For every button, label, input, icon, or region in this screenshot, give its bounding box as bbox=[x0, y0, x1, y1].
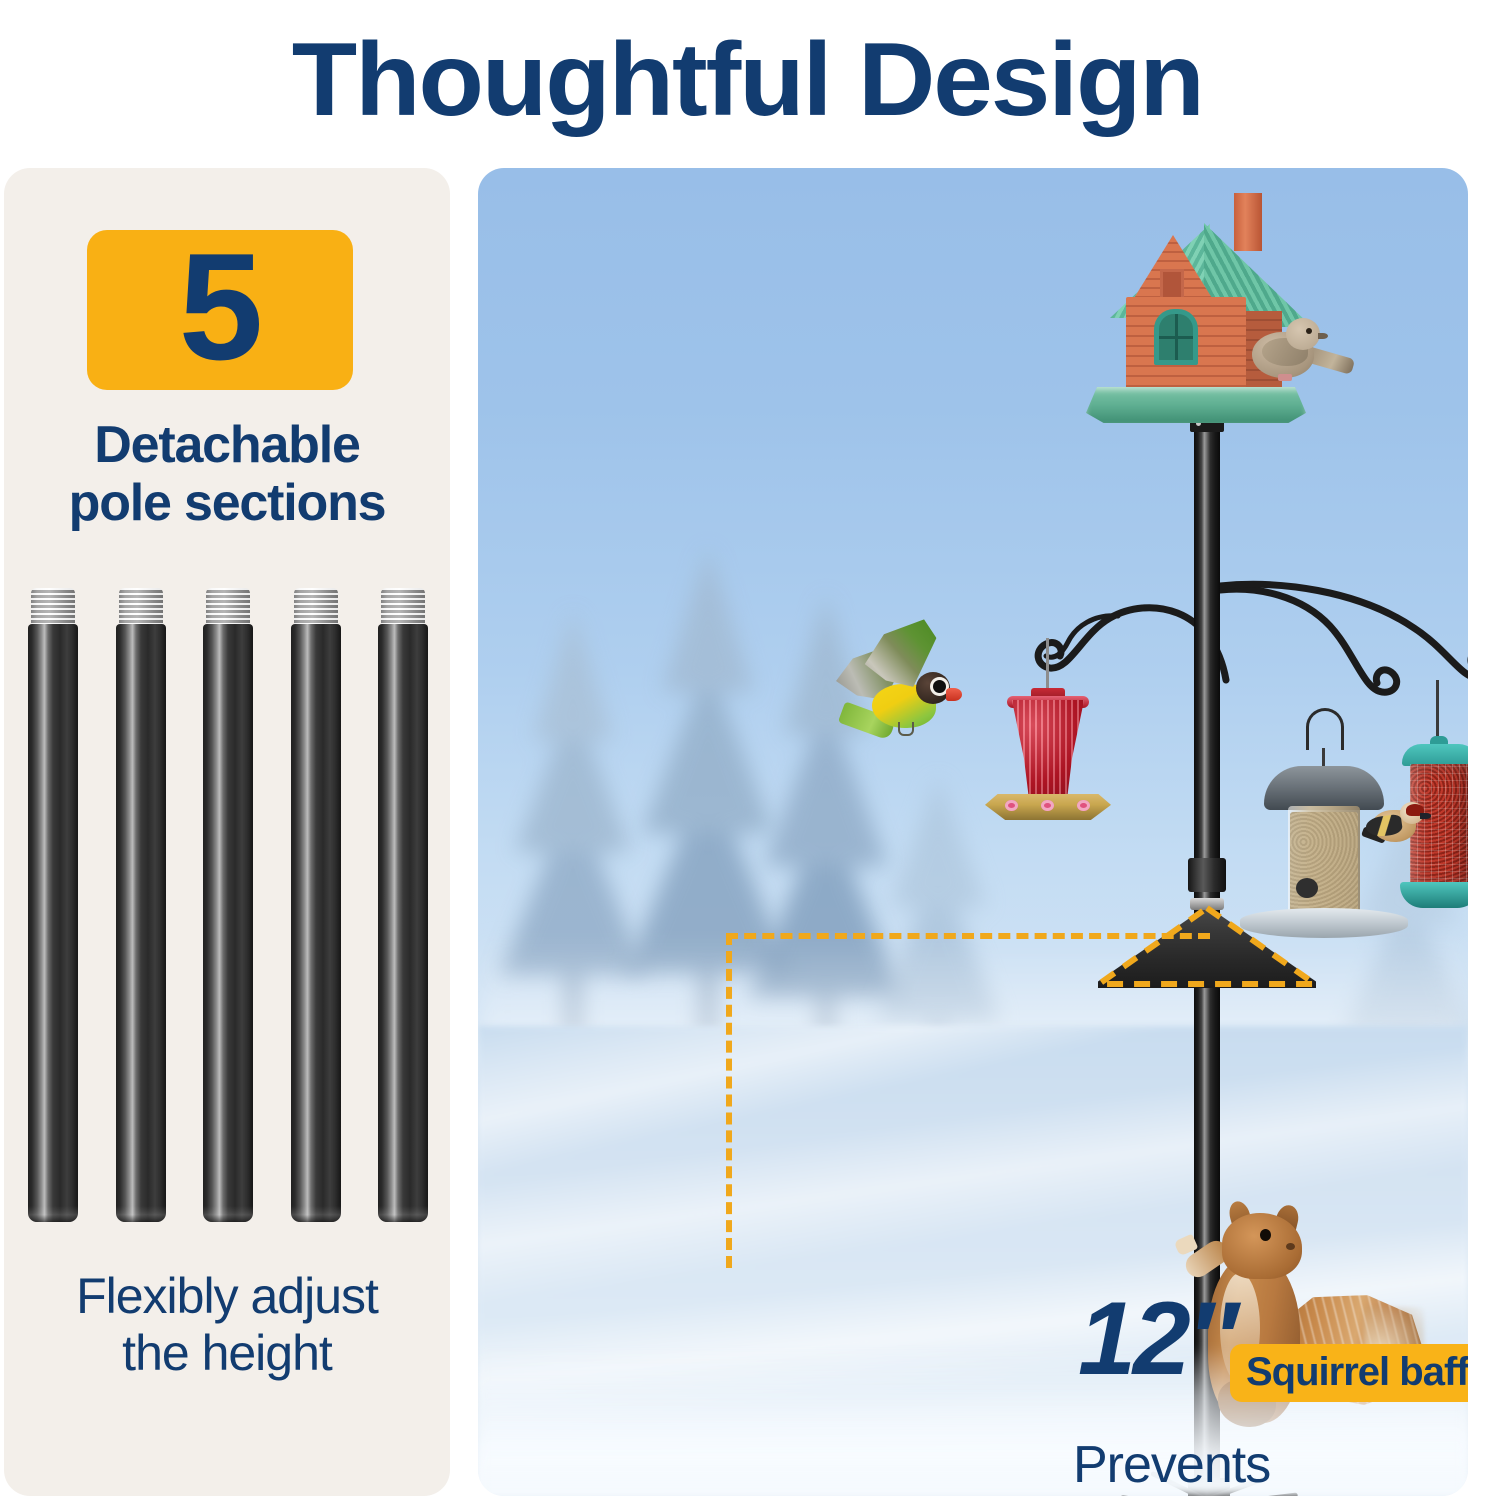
feeder-seed-fill bbox=[1290, 812, 1358, 912]
feeder-base bbox=[1400, 882, 1468, 908]
pole-section bbox=[291, 588, 341, 1248]
lovebird-beak bbox=[946, 688, 962, 701]
pole-body bbox=[28, 624, 78, 1222]
baffle-measurement-label: 12″ bbox=[1078, 1287, 1235, 1391]
feeder-port bbox=[1296, 878, 1318, 898]
pole-body bbox=[378, 624, 428, 1222]
page-title: Thoughtful Design bbox=[291, 28, 1202, 132]
pole-section bbox=[378, 588, 428, 1248]
header: Thoughtful Design bbox=[0, 0, 1494, 160]
tree-tier bbox=[662, 547, 754, 692]
pole-section bbox=[28, 588, 78, 1248]
mourning-dove bbox=[1244, 316, 1352, 386]
pole-body bbox=[116, 624, 166, 1222]
right-caption-line-1: Prevents squirrels bbox=[1073, 1436, 1468, 1496]
goldfinch bbox=[1362, 800, 1432, 856]
left-feature-panel: 5 Detachable pole sections Flexibly adju… bbox=[4, 168, 450, 1496]
lovebird-foot bbox=[898, 722, 914, 736]
pole-sections-group bbox=[28, 588, 428, 1258]
squirrel-nose bbox=[1286, 1243, 1295, 1250]
feeder-port bbox=[1005, 800, 1018, 811]
tree-tier bbox=[533, 610, 613, 740]
pole-section bbox=[203, 588, 253, 1248]
left-panel-caption: Flexibly adjust the height bbox=[4, 1268, 450, 1382]
birdhouse-chimney bbox=[1234, 193, 1262, 251]
pole-body bbox=[291, 624, 341, 1222]
left-heading-line-2: pole sections bbox=[4, 474, 450, 532]
feeder-hanger-wire bbox=[1046, 638, 1049, 690]
mesh-tube-feeder bbox=[1390, 680, 1468, 910]
feeder-port bbox=[1041, 800, 1054, 811]
birdhouse bbox=[1086, 193, 1306, 423]
pole-joint-collar bbox=[1188, 858, 1226, 892]
pole-section bbox=[116, 588, 166, 1248]
lovebird-eye bbox=[933, 680, 946, 693]
squirrel-baffle-pill: Squirrel baffle bbox=[1230, 1344, 1468, 1402]
right-panel-caption: Prevents squirrels or other animals bbox=[1073, 1436, 1468, 1496]
tree-tier bbox=[890, 777, 986, 907]
left-caption-line-2: the height bbox=[4, 1325, 450, 1382]
dove-eye bbox=[1306, 328, 1312, 334]
right-feature-panel: 12″ Squirrel baffle Prevents squirrels o… bbox=[478, 168, 1468, 1496]
feeder-glass-reservoir bbox=[1005, 700, 1091, 800]
left-panel-heading: Detachable pole sections bbox=[4, 416, 450, 532]
feeder-lid bbox=[1402, 744, 1468, 766]
baffle-highlight-outline bbox=[1096, 904, 1318, 990]
measure-line-horizontal bbox=[726, 933, 1210, 939]
flying-lovebird bbox=[830, 618, 980, 768]
pole-count-number: 5 bbox=[179, 231, 262, 383]
squirrel-eye bbox=[1260, 1229, 1271, 1241]
dove-beak bbox=[1318, 333, 1328, 339]
feeder-hanger-hook bbox=[1306, 708, 1344, 750]
left-caption-line-1: Flexibly adjust bbox=[4, 1268, 450, 1325]
feeder-port bbox=[1077, 800, 1090, 811]
measure-line-vertical bbox=[726, 933, 732, 1268]
dove-head bbox=[1286, 318, 1320, 350]
birdhouse-platform bbox=[1086, 387, 1306, 423]
pole-body bbox=[203, 624, 253, 1222]
finch-beak bbox=[1420, 813, 1431, 819]
left-heading-line-1: Detachable bbox=[4, 416, 450, 474]
birdhouse-window bbox=[1154, 309, 1198, 365]
pole-count-badge: 5 bbox=[87, 230, 353, 390]
hummingbird-feeder bbox=[983, 638, 1113, 828]
dove-foot bbox=[1278, 374, 1292, 381]
